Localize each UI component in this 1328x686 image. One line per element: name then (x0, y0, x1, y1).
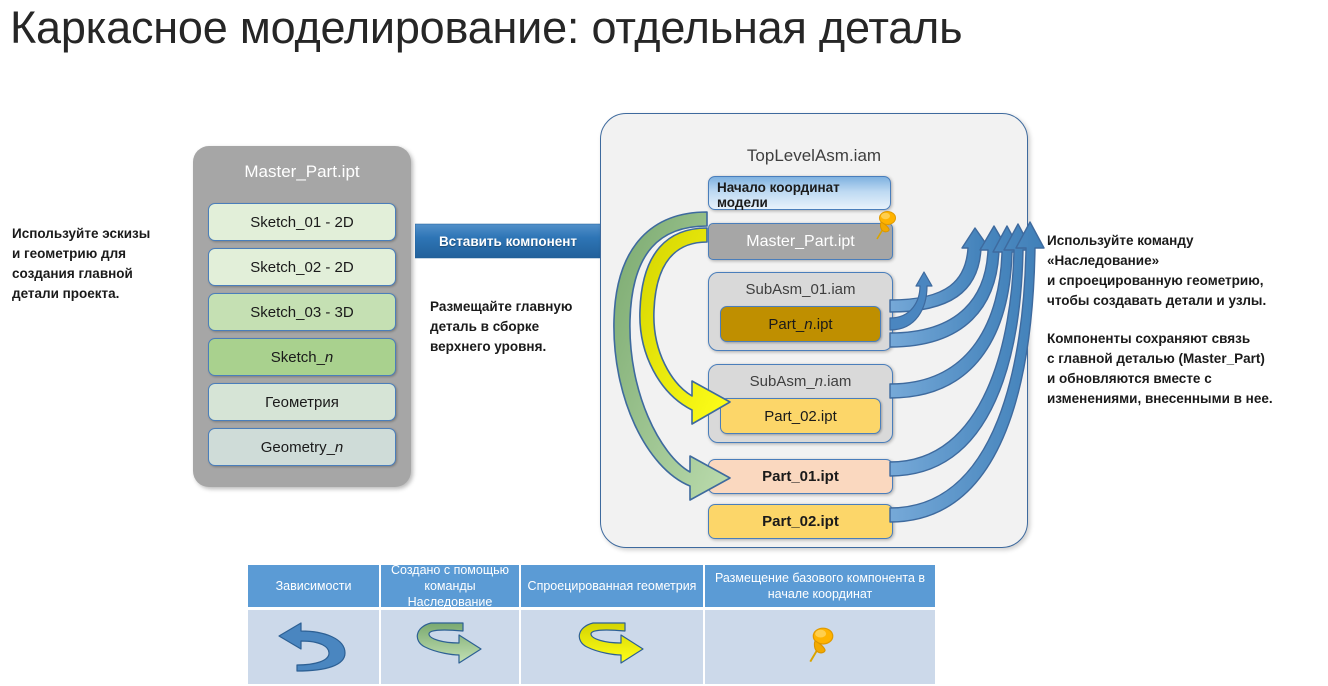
subassembly-n-title-prefix: SubAsm_ (750, 373, 815, 390)
subassembly-n-part[interactable]: Part_02.ipt (720, 398, 881, 434)
sketch-item-label-italic: n (325, 349, 333, 366)
legend-icon-row (248, 610, 935, 684)
top-level-assembly-panel: TopLevelAsm.iam Начало координат модели … (600, 113, 1028, 548)
legend-header-dependencies: Зависимости (248, 565, 381, 607)
legend-cell-base-component (705, 610, 935, 684)
subassembly-01[interactable]: SubAsm_01.iam Part_n.ipt (708, 272, 893, 351)
geometry-item[interactable]: Геометрия (208, 383, 396, 421)
legend-header-row: Зависимости Создано с помощью команды На… (248, 565, 935, 607)
sketch-item-03[interactable]: Sketch_03 - 3D (208, 293, 396, 331)
origin-node[interactable]: Начало координат модели (708, 176, 891, 210)
part-label-suffix: .ipt (813, 316, 833, 333)
note-left: Используйте эскизы и геометрию для созда… (12, 224, 150, 304)
geometry-item-n[interactable]: Geometry_n (208, 428, 396, 466)
legend-header-inheritance: Создано с помощью команды Наследование (381, 565, 521, 607)
slide-canvas: Каркасное моделирование: отдельная детал… (0, 0, 1328, 686)
assembly-panel-title: TopLevelAsm.iam (601, 146, 1027, 166)
subassembly-n[interactable]: SubAsm_n.iam Part_02.ipt (708, 364, 893, 443)
subassembly-01-title: SubAsm_01.iam (709, 281, 892, 298)
assembly-master-part-node[interactable]: Master_Part.ipt (708, 223, 893, 260)
legend-table: Зависимости Создано с помощью команды На… (248, 565, 935, 684)
subassembly-n-title-suffix: .iam (823, 373, 851, 390)
blue-curved-arrow-icon (271, 621, 357, 673)
subassembly-n-title-italic: n (815, 373, 823, 390)
sketch-item-label: Sketch_ (271, 349, 325, 366)
green-curved-arrow-icon (407, 621, 493, 673)
geometry-item-label: Геометрия (265, 394, 339, 411)
note-middle: Размещайте главную деталь в сборке верхн… (430, 297, 572, 357)
legend-cell-inheritance (381, 610, 521, 684)
note-right-link: Компоненты сохраняют связь с главной дет… (1047, 329, 1273, 409)
sketch-item-n[interactable]: Sketch_n (208, 338, 396, 376)
yellow-curved-arrow-icon (569, 621, 655, 673)
pushpin-icon (871, 209, 899, 245)
geometry-item-label: Geometry_ (261, 439, 335, 456)
sketch-item-01[interactable]: Sketch_01 - 2D (208, 203, 396, 241)
sketch-item-label: Sketch_02 - 2D (250, 259, 353, 276)
part-label: Part_ (768, 316, 804, 333)
legend-header-base-component: Размещение базового компонента в начале … (705, 565, 935, 607)
legend-header-projected-geometry: Спроецированная геометрия (521, 565, 705, 607)
legend-cell-projected-geometry (521, 610, 705, 684)
part-label-italic: n (804, 316, 812, 333)
pushpin-icon (803, 625, 837, 669)
part-01-label: Part_01.ipt (762, 468, 839, 485)
page-title: Каркасное моделирование: отдельная детал… (10, 0, 962, 58)
part-01-node[interactable]: Part_01.ipt (708, 459, 893, 494)
master-part-panel: Master_Part.ipt Sketch_01 - 2D Sketch_02… (193, 146, 411, 487)
origin-node-label: Начало координат модели (717, 180, 890, 210)
sketch-item-label: Sketch_03 - 3D (250, 304, 353, 321)
assembly-master-part-label: Master_Part.ipt (746, 233, 854, 251)
insert-component-arrow-label: Вставить компонент (415, 219, 601, 263)
subassembly-01-part[interactable]: Part_n.ipt (720, 306, 881, 342)
master-part-panel-title: Master_Part.ipt (193, 162, 411, 182)
part-02-label: Part_02.ipt (762, 513, 839, 530)
geometry-item-label-italic: n (335, 439, 343, 456)
part-02-node[interactable]: Part_02.ipt (708, 504, 893, 539)
legend-cell-dependencies (248, 610, 381, 684)
part-label: Part_02.ipt (764, 408, 837, 425)
sketch-item-02[interactable]: Sketch_02 - 2D (208, 248, 396, 286)
subassembly-n-title: SubAsm_n.iam (709, 373, 892, 390)
note-right-inherit: Используйте команду «Наследование» и спр… (1047, 231, 1266, 311)
sketch-item-label: Sketch_01 - 2D (250, 214, 353, 231)
